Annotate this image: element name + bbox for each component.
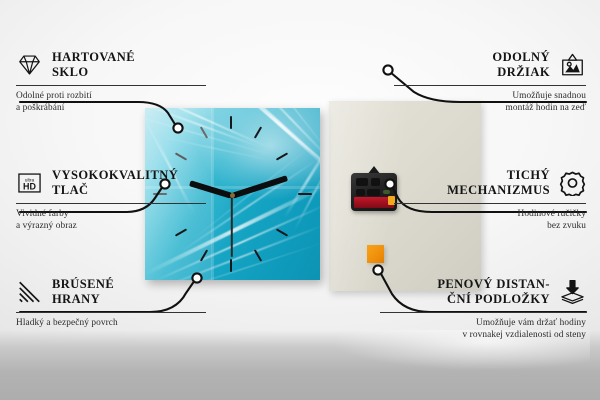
feature-sub-line1: Umožňuje vám držať hodiny <box>380 317 586 329</box>
feature-divider <box>394 203 586 204</box>
feature-sub-line1: Odolné proti rozbití <box>16 90 206 102</box>
feature-title-line1: TICHÝ <box>447 168 550 183</box>
feature-sub-line2: bez zvuku <box>394 220 586 232</box>
down-arrow-stack-icon <box>559 279 586 305</box>
feature-subtitle: Odolné proti rozbití a poškrábání <box>16 90 206 114</box>
ultra-hd-icon: ultra HD <box>16 170 43 196</box>
feature-high-quality-print: ultra HD VYSOKOKVALITNÝ TLAČ Vividné far… <box>16 168 206 232</box>
feature-title: HARTOVANÉ SKLO <box>52 50 135 80</box>
feature-title: PENOVÝ DISTAN- ČNÍ PODLOŽKY <box>437 277 550 307</box>
feature-title-line1: ODOLNÝ <box>492 50 550 65</box>
feature-tempered-glass: HARTOVANÉ SKLO Odolné proti rozbití a po… <box>16 50 206 114</box>
clock-tick <box>230 259 232 272</box>
feature-subtitle: Umožňuje snadnou montáž hodin na zeď <box>394 90 586 114</box>
feature-durable-hanger: ODOLNÝ DRŽIAK Umožňuje snadnou montáž ho… <box>394 50 586 114</box>
feature-title-line2: MECHANIZMUS <box>447 183 550 198</box>
feature-divider <box>16 85 206 86</box>
feature-title-line1: HARTOVANÉ <box>52 50 135 65</box>
feature-divider <box>380 312 586 313</box>
feature-subtitle: Hodinové ručičky bez zvuku <box>394 208 586 232</box>
feature-subtitle: Umožňuje vám držať hodiny v rovnakej vzd… <box>380 317 586 341</box>
clock-tick <box>230 116 232 129</box>
feature-sub-line2: v rovnakej vzdialenosti od steny <box>380 329 586 341</box>
feature-sub-line1: Vividné farby <box>16 208 206 220</box>
svg-text:HD: HD <box>23 182 36 192</box>
feature-title-line1: PENOVÝ DISTAN- <box>437 277 550 292</box>
feature-title-line2: TLAČ <box>52 183 178 198</box>
feature-subtitle: Vividné farby a výrazný obraz <box>16 208 206 232</box>
feature-title-line1: BRÚSENÉ <box>52 277 114 292</box>
clock-center-pin <box>230 193 235 198</box>
feature-sub-line1: Hodinové ručičky <box>394 208 586 220</box>
feature-subtitle: Hladký a bezpečný povrch <box>16 317 206 329</box>
feature-divider <box>16 312 206 313</box>
feature-divider <box>16 203 206 204</box>
feature-sub-line1: Umožňuje snadnou <box>394 90 586 102</box>
feature-title-line2: HRANY <box>52 292 114 307</box>
gear-icon <box>559 170 586 196</box>
feature-title: ODOLNÝ DRŽIAK <box>492 50 550 80</box>
feature-divider <box>394 85 586 86</box>
feature-title: BRÚSENÉ HRANY <box>52 277 114 307</box>
foam-spacer-pad <box>367 245 384 263</box>
feature-silent-mechanism: TICHÝ MECHANIZMUS Hodinové ručičky bez z… <box>394 168 586 232</box>
diamond-icon <box>16 52 43 78</box>
clock-tick <box>298 193 312 195</box>
feature-sub-line2: a výrazný obraz <box>16 220 206 232</box>
feature-title-line1: VYSOKOKVALITNÝ <box>52 168 178 183</box>
picture-hanger-icon <box>559 52 586 78</box>
feature-title-line2: SKLO <box>52 65 135 80</box>
feature-polished-edges: BRÚSENÉ HRANY Hladký a bezpečný povrch <box>16 277 206 329</box>
feature-sub-line2: montáž hodin na zeď <box>394 102 586 114</box>
feature-sub-line1: Hladký a bezpečný povrch <box>16 317 206 329</box>
feature-title-line2: DRŽIAK <box>492 65 550 80</box>
feature-sub-line2: a poškrábání <box>16 102 206 114</box>
feature-title-line2: ČNÍ PODLOŽKY <box>437 292 550 307</box>
feature-title: TICHÝ MECHANIZMUS <box>447 168 550 198</box>
feature-foam-spacers: PENOVÝ DISTAN- ČNÍ PODLOŽKY Umožňuje vám… <box>380 277 586 341</box>
feature-title: VYSOKOKVALITNÝ TLAČ <box>52 168 178 198</box>
promo-graphic: HARTOVANÉ SKLO Odolné proti rozbití a po… <box>0 0 600 400</box>
hatched-triangle-icon <box>16 279 43 305</box>
clock-second-hand <box>231 195 233 257</box>
